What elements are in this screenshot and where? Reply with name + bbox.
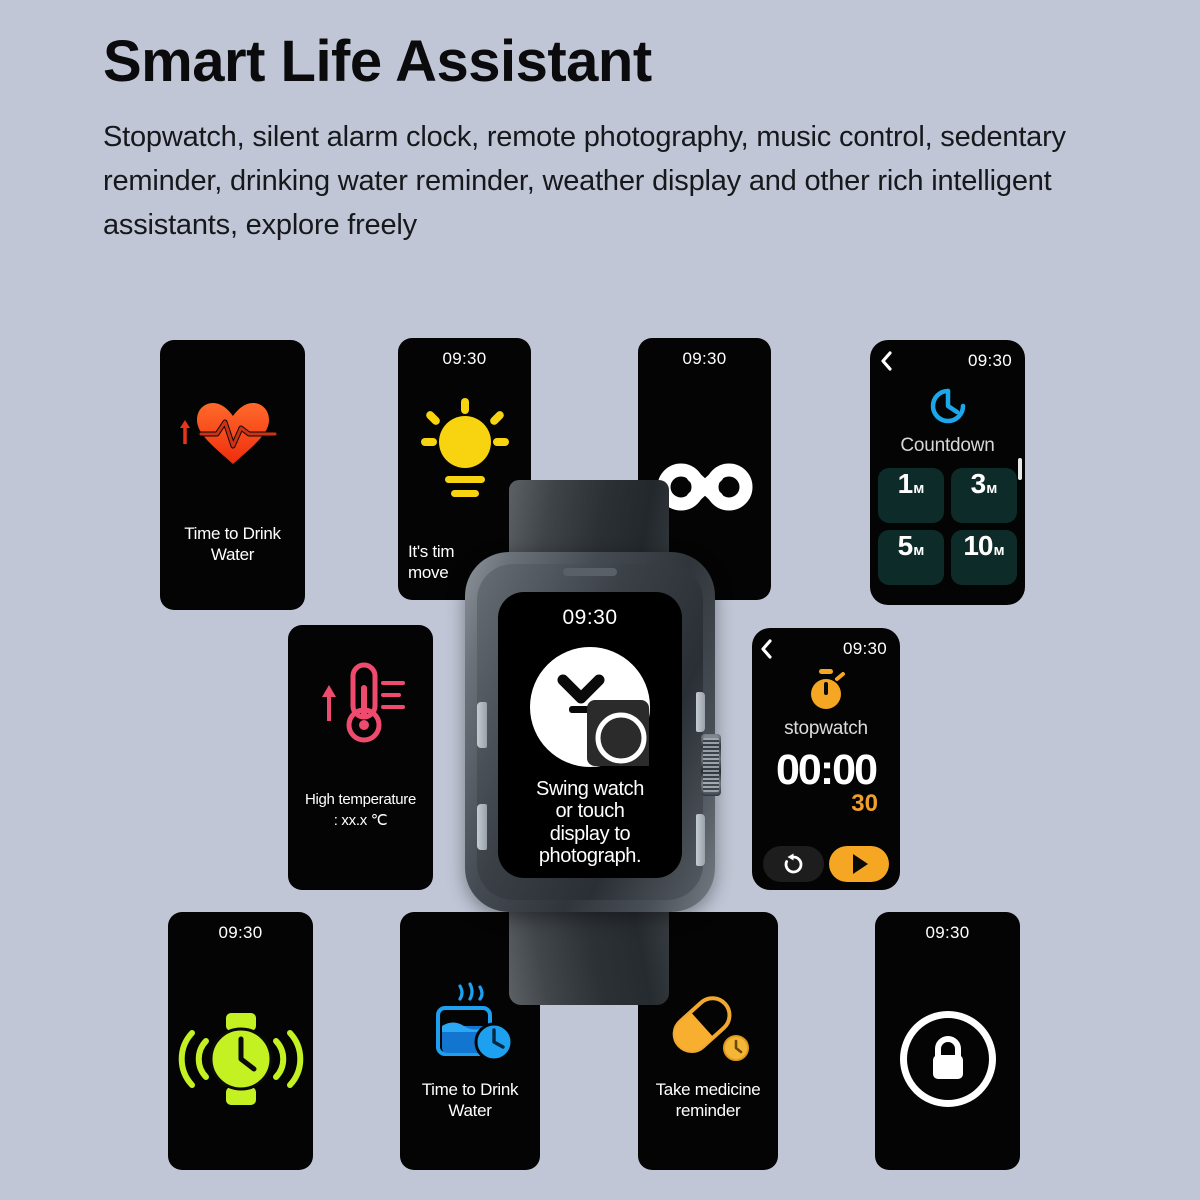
watch-display-caption: Swing watch or touch display to photogra… <box>536 778 644 868</box>
status-bar: 09:30 <box>398 344 531 374</box>
camera-remote-icon <box>529 646 651 768</box>
stopwatch-controls <box>752 846 900 882</box>
watch-side-button-upper-right[interactable] <box>696 692 705 732</box>
reset-icon <box>782 853 805 876</box>
page-title: Smart Life Assistant <box>103 32 1123 93</box>
stopwatch-icon <box>805 668 847 717</box>
screen-silent-alarm[interactable]: 09:30 <box>168 912 313 1170</box>
screen-drink-water-top[interactable]: Time to Drink Water <box>160 340 305 610</box>
countdown-presets: 1м 3м 5м 10м <box>870 468 1025 585</box>
stopwatch-label: stopwatch <box>784 718 868 740</box>
drink-water-caption: Time to Drink Water <box>184 523 281 567</box>
status-bar: 09:30 <box>870 346 1025 376</box>
stopwatch-play-button[interactable] <box>829 846 890 882</box>
watch-display-clock: 09:30 <box>562 606 617 630</box>
screen-stopwatch[interactable]: 09:30 stopwatch 00:00 30 <box>752 628 900 890</box>
lock-icon <box>900 1011 996 1107</box>
countdown-preset-10m[interactable]: 10м <box>951 530 1017 585</box>
watch-crown[interactable] <box>701 734 721 796</box>
screen-lock[interactable]: 09:30 <box>875 912 1020 1170</box>
stopwatch-centiseconds: 30 <box>851 790 878 818</box>
stopwatch-reset-button[interactable] <box>763 846 824 882</box>
watch-case: 09:30 Swing watch or touch display to ph… <box>465 552 715 912</box>
vibrating-watch-icon <box>178 1007 304 1111</box>
countdown-preset-1m[interactable]: 1м <box>878 468 944 523</box>
screen-high-temperature[interactable]: High temperature : xx.x ℃ <box>288 625 433 890</box>
watch-case-notch <box>563 568 617 576</box>
watch-side-button-lower-right[interactable] <box>696 814 705 866</box>
status-bar: 09:30 <box>638 344 771 374</box>
play-icon <box>853 854 868 874</box>
status-bar: 09:30 <box>752 634 900 664</box>
status-clock: 09:30 <box>218 923 262 943</box>
scrollbar[interactable] <box>1018 458 1022 480</box>
status-clock: 09:30 <box>682 349 726 369</box>
countdown-preset-5m[interactable]: 5м <box>878 530 944 585</box>
temperature-caption: High temperature : xx.x ℃ <box>305 790 416 830</box>
page-description: Stopwatch, silent alarm clock, remote ph… <box>103 115 1123 247</box>
countdown-preset-3m[interactable]: 3м <box>951 468 1017 523</box>
header: Smart Life Assistant Stopwatch, silent a… <box>103 32 1123 247</box>
back-chevron-icon[interactable] <box>764 634 780 664</box>
watch-side-button-upper-left[interactable] <box>477 702 487 748</box>
countdown-timer-icon <box>926 384 970 433</box>
back-chevron-icon[interactable] <box>882 346 898 376</box>
watch-side-button-lower-left[interactable] <box>477 804 487 850</box>
thermometer-icon <box>309 655 413 751</box>
heart-pulse-icon <box>177 394 289 468</box>
drink-water-bottom-caption: Time to Drink Water <box>422 1079 519 1123</box>
screen-countdown[interactable]: 09:30 Countdown 1м 3м 5м 10м <box>870 340 1025 605</box>
status-clock: 09:30 <box>442 349 486 369</box>
medicine-caption: Take medicine reminder <box>656 1079 761 1123</box>
status-bar: 09:30 <box>875 918 1020 948</box>
watch-display[interactable]: 09:30 Swing watch or touch display to ph… <box>498 592 682 878</box>
status-bar: 09:30 <box>168 918 313 948</box>
status-clock: 09:30 <box>925 923 969 943</box>
stopwatch-time: 00:00 <box>776 749 876 792</box>
status-clock: 09:30 <box>968 351 1012 371</box>
countdown-title: Countdown <box>900 435 994 457</box>
smartwatch-product: 09:30 Swing watch or touch display to ph… <box>447 480 737 1000</box>
status-clock: 09:30 <box>843 639 887 659</box>
